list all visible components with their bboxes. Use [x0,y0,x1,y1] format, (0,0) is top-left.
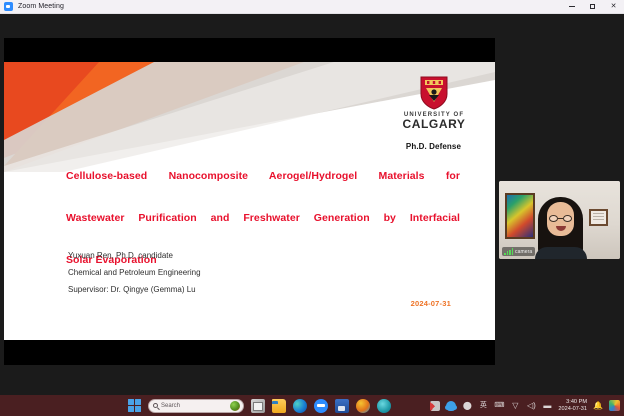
logo-line-2: CALGARY [391,118,477,131]
wifi-icon[interactable]: ▽ [510,401,520,411]
wall-painting [505,193,535,239]
self-view-label: camera [515,249,532,255]
network-icon[interactable] [430,401,440,411]
eyeglass-bridge [558,218,563,219]
taskbar-clock[interactable]: 3:40 PM 2024-07-31 [558,399,587,413]
word-icon[interactable] [335,399,349,413]
taskbar-apps: Search [128,395,391,416]
slide-byline: Yuxuan Ren, Ph.D. candidate Chemical and… [68,247,398,298]
supervisor-name: Supervisor: Dr. Qingye (Gemma) Lu [68,281,398,298]
eyeglass-left [549,215,558,222]
start-icon[interactable] [128,399,141,412]
video-status-badge: camera [502,247,535,256]
zoom-taskbar-icon[interactable] [314,399,328,413]
department-name: Chemical and Petroleum Engineering [68,264,398,281]
presenter-name: Yuxuan Ren, Ph.D. candidate [68,247,398,264]
search-input[interactable]: Search [148,399,244,413]
eyeglass-right [563,215,572,222]
ucalgary-shield-icon [419,76,449,110]
zoom-meeting-window: Zoom Meeting ✕ [0,0,624,416]
window-controls: ✕ [561,0,624,14]
participant-face [547,202,574,236]
event-label: Ph.D. Defense [406,142,461,151]
system-tray: ⬤ 英 ⌨ ▽ ◁) ▬ 3:40 PM 2024-07-31 🔔 [430,395,620,416]
sound-icon[interactable]: ◁) [526,401,536,411]
clock-time: 3:40 PM [558,399,587,406]
meeting-stage: UNIVERSITY OF CALGARY Ph.D. Defense Cell… [0,14,624,395]
close-button[interactable]: ✕ [603,0,624,14]
clock-date: 2024-07-31 [558,406,587,413]
minimize-icon [569,6,575,7]
onedrive-icon[interactable] [446,401,456,411]
edge-beta-icon[interactable] [356,399,370,413]
edge-icon[interactable] [293,399,307,413]
wall-certificate [589,209,608,226]
presentation-slide: UNIVERSITY OF CALGARY Ph.D. Defense Cell… [4,62,495,340]
participant-shoulders [535,247,587,259]
slide-date: 2024-07-31 [411,299,451,308]
search-placeholder: Search [161,403,180,409]
window-title: Zoom Meeting [18,3,64,10]
teams-icon[interactable] [377,399,391,413]
slide-title-line-1: Cellulose-based Nanocomposite Aerogel/Hy… [66,166,460,208]
keyboard-icon[interactable]: ⌨ [494,401,504,411]
university-logo: UNIVERSITY OF CALGARY [391,76,477,131]
file-explorer-icon[interactable] [272,399,286,413]
window-titlebar: Zoom Meeting ✕ [0,0,624,14]
windows-taskbar: Search ⬤ 英 ⌨ ▽ ◁) ▬ 3:40 PM 2024-07-31 [0,395,624,416]
battery-icon[interactable]: ▬ [542,401,552,411]
minimize-button[interactable] [561,0,582,14]
task-view-icon[interactable] [251,399,265,413]
search-icon [153,403,158,408]
self-view-video-tile[interactable]: camera [499,181,620,259]
ime-icon[interactable]: 英 [478,401,488,411]
slide-title-line-2: Wastewater Purification and Freshwater G… [66,208,460,250]
maximize-button[interactable] [582,0,603,14]
zoom-app-icon [4,2,13,11]
maximize-icon [590,4,595,9]
microphone-icon[interactable]: ⬤ [462,401,472,411]
search-highlight-icon [230,401,240,411]
signal-bars-icon [504,248,513,255]
bell-icon[interactable]: 🔔 [593,401,603,411]
tray-app-icon[interactable] [609,400,620,411]
participant-mouth [556,226,566,231]
